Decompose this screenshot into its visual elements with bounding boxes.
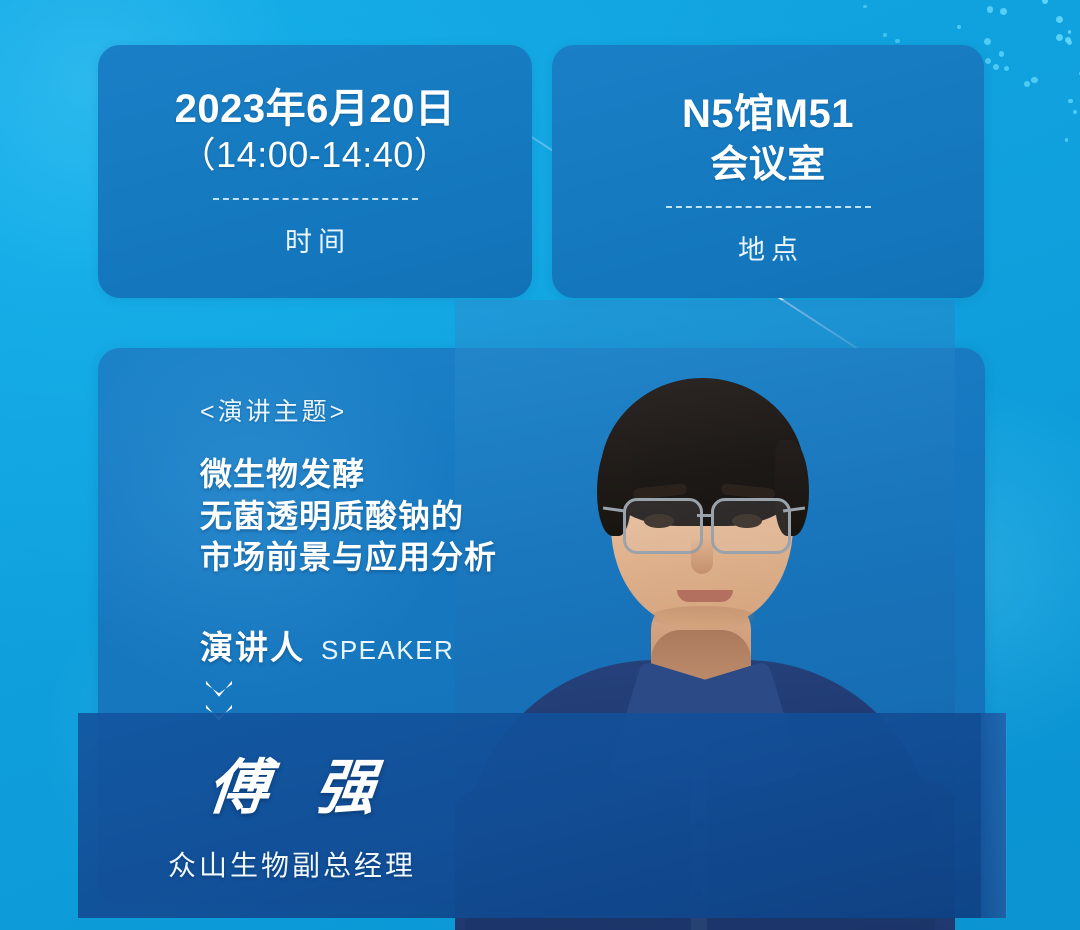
chevron-down-icon bbox=[206, 681, 232, 697]
speaker-heading-cn: 演讲人 bbox=[200, 621, 305, 669]
portrait-mouth bbox=[677, 590, 733, 602]
time-card-range: （14:00-14:40） bbox=[98, 134, 532, 176]
time-card[interactable]: 2023年6月20日 （14:00-14:40） 时间 bbox=[98, 45, 532, 298]
topic-tag: <演讲主题> bbox=[200, 392, 620, 428]
topic-text-block: <演讲主题> 微生物发酵 无菌透明质酸钠的 市场前景与应用分析 演讲人 SPEA… bbox=[200, 392, 620, 729]
info-card-row: 2023年6月20日 （14:00-14:40） 时间 N5馆M51 会议室 地… bbox=[98, 45, 984, 298]
time-card-date: 2023年6月20日 bbox=[98, 87, 532, 132]
portrait-chin-shadow bbox=[651, 606, 755, 628]
venue-card-room: 会议室 bbox=[552, 143, 984, 188]
portrait-glasses-bridge bbox=[697, 514, 713, 517]
time-card-label: 时间 bbox=[98, 220, 532, 259]
event-poster: 2023年6月20日 （14:00-14:40） 时间 N5馆M51 会议室 地… bbox=[0, 0, 1080, 930]
topic-line-2: 无菌透明质酸钠的 bbox=[200, 496, 620, 538]
speaker-name: 傅 强 bbox=[99, 758, 485, 818]
venue-card-label: 地点 bbox=[552, 228, 984, 267]
speaker-heading-en: SPEAKER bbox=[321, 635, 454, 666]
portrait-glasses-lens-right bbox=[711, 498, 791, 554]
venue-card-divider bbox=[666, 206, 871, 208]
speaker-heading: 演讲人 SPEAKER bbox=[200, 621, 620, 669]
speaker-name-block: 傅 强 众山生物副总经理 bbox=[102, 758, 482, 884]
venue-card-hall: N5馆M51 bbox=[552, 91, 984, 137]
venue-card[interactable]: N5馆M51 会议室 地点 bbox=[552, 45, 984, 298]
topic-line-3: 市场前景与应用分析 bbox=[200, 537, 620, 579]
time-card-divider bbox=[213, 198, 418, 200]
topic-line-1: 微生物发酵 bbox=[200, 454, 620, 496]
portrait-nose bbox=[691, 538, 713, 574]
speaker-title: 众山生物副总经理 bbox=[102, 844, 482, 884]
